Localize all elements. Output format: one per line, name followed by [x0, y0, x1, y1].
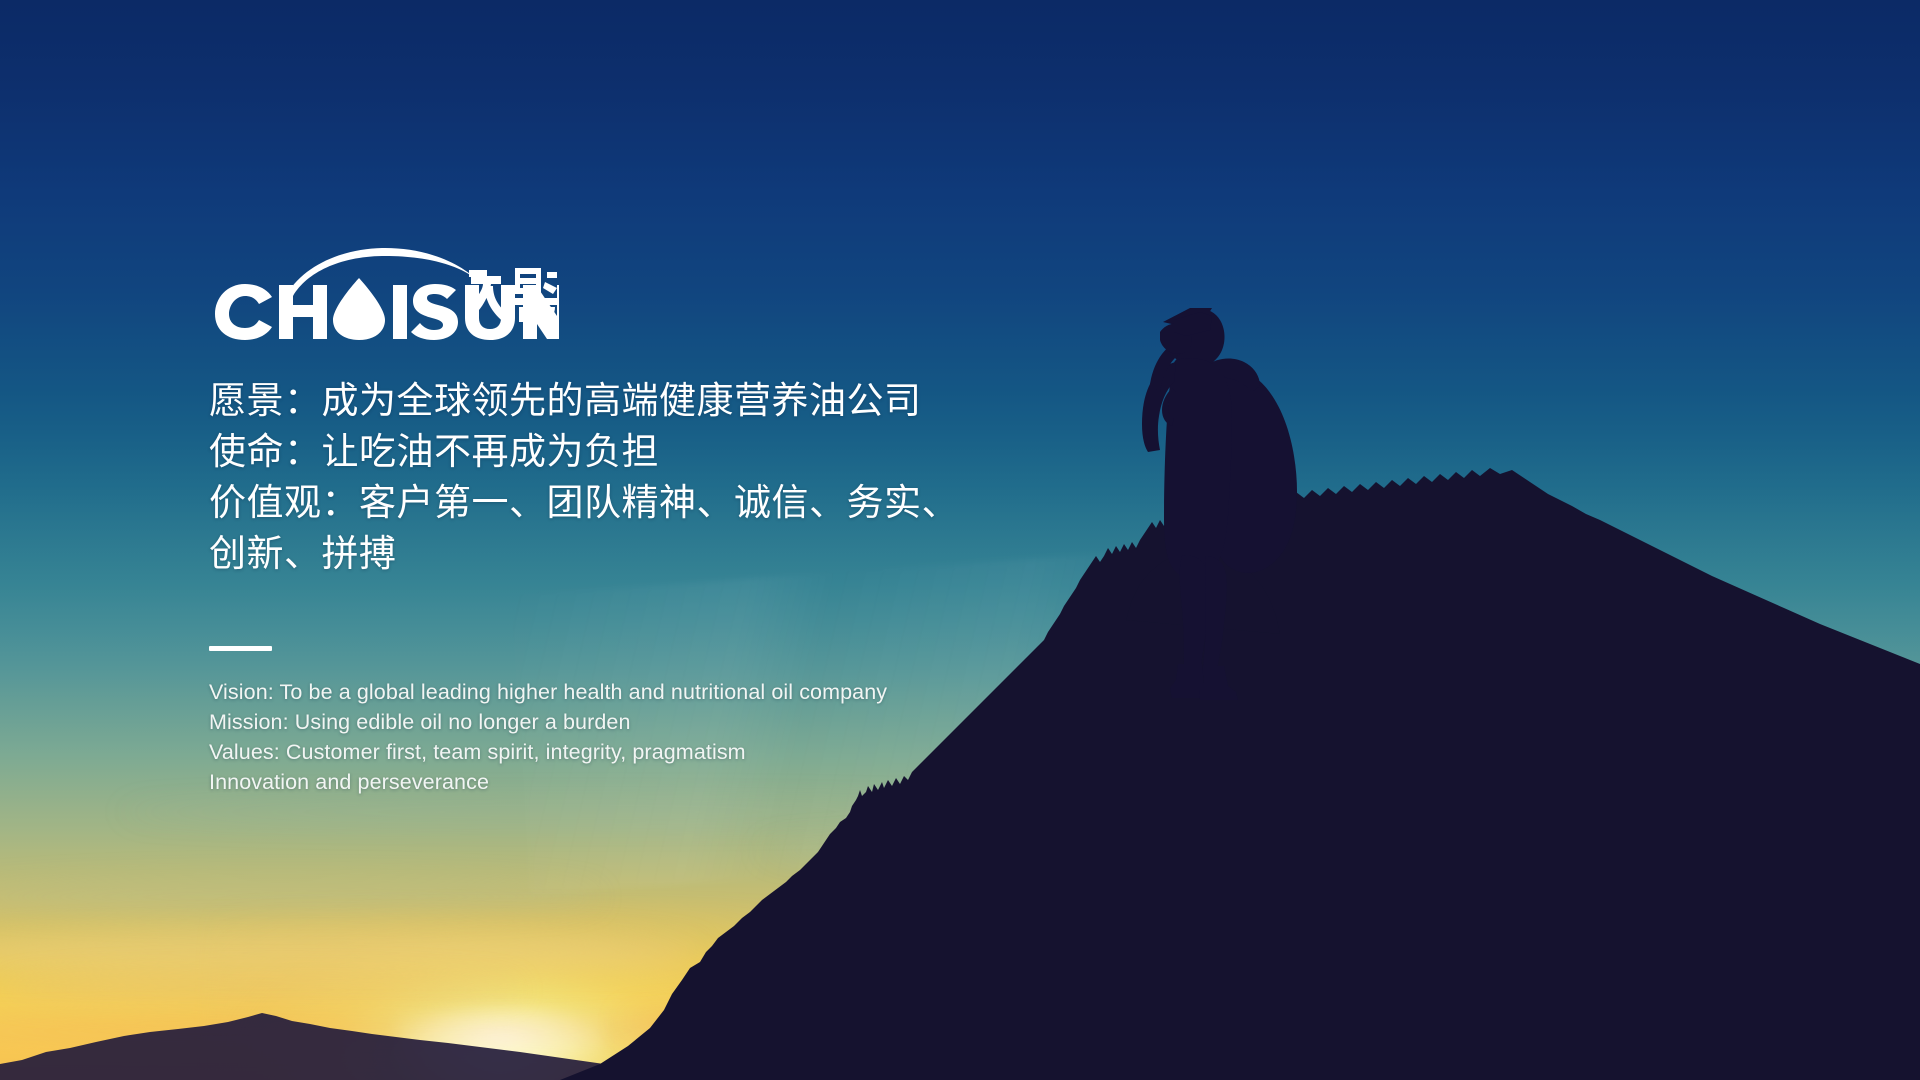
section-divider — [209, 646, 272, 651]
logo-letter-i — [393, 285, 407, 339]
logo-letter-c — [215, 284, 272, 340]
oil-droplet-icon — [333, 278, 385, 340]
statements-chinese: 愿景：成为全球领先的高端健康营养油公司 使命：让吃油不再成为负担 价值观：客户第… — [209, 375, 1209, 579]
values-line-en-1: Values: Customer first, team spirit, int… — [209, 737, 1209, 767]
slide-canvas: 愿景：成为全球领先的高端健康营养油公司 使命：让吃油不再成为负担 价值观：客户第… — [0, 0, 1920, 1080]
logo-letter-h — [279, 285, 327, 339]
vision-line-en: Vision: To be a global leading higher he… — [209, 677, 1209, 707]
vision-line-cn: 愿景：成为全球领先的高端健康营养油公司 — [209, 375, 1209, 426]
logo-cjk-char-1 — [469, 270, 511, 323]
values-line-cn-2: 创新、拼搏 — [209, 528, 1209, 579]
statements-english: Vision: To be a global leading higher he… — [209, 677, 1209, 797]
company-logo[interactable] — [209, 248, 559, 340]
logo-cjk-char-2 — [513, 268, 557, 323]
cloud-band — [0, 975, 520, 1005]
values-line-cn-1: 价值观：客户第一、团队精神、诚信、务实、 — [209, 477, 1209, 528]
logo-cjk-mark — [467, 264, 559, 324]
mission-line-cn: 使命：让吃油不再成为负担 — [209, 426, 1209, 477]
values-line-en-2: Innovation and perseverance — [209, 767, 1209, 797]
mission-line-en: Mission: Using edible oil no longer a bu… — [209, 707, 1209, 737]
logo-letter-s — [411, 284, 458, 340]
